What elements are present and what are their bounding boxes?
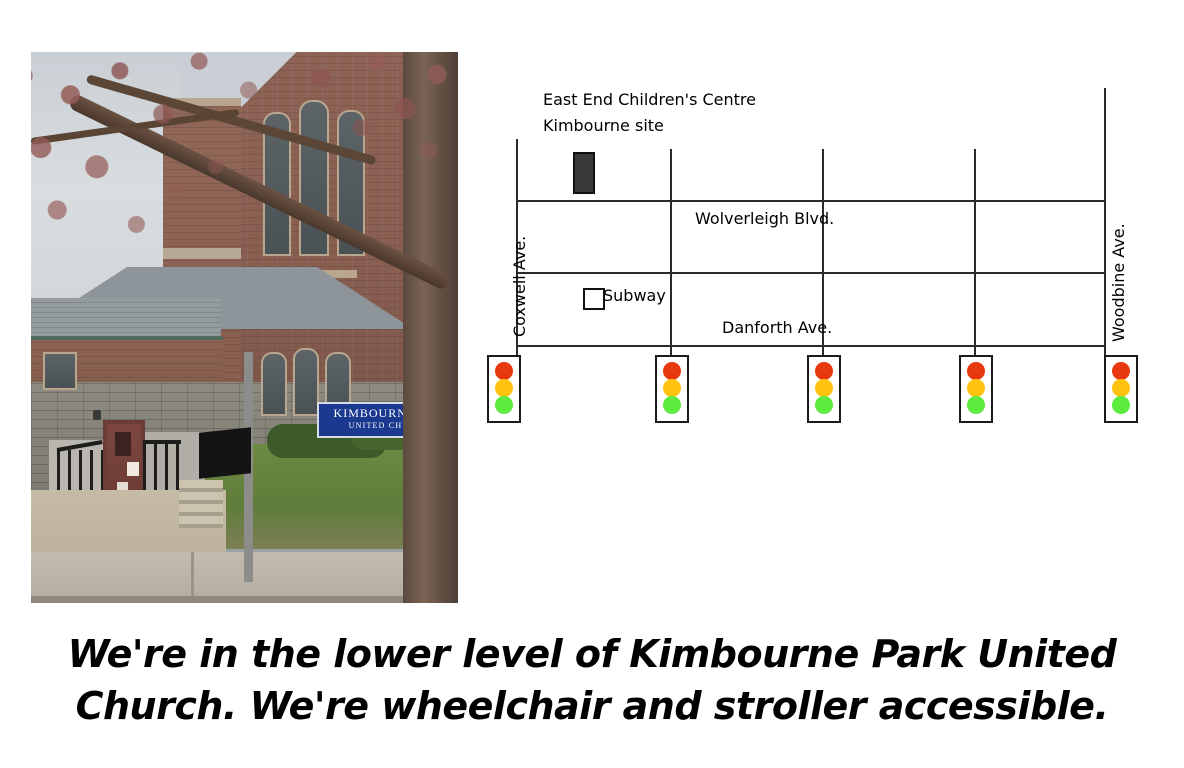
traffic-light-green-bulb [663, 396, 681, 414]
traffic-light-amber-bulb [967, 379, 985, 397]
traffic-light [807, 355, 841, 423]
traffic-light-amber-bulb [1112, 379, 1130, 397]
subway-label: Subway [603, 286, 666, 305]
street-label-woodbine: Woodbine Ave. [1109, 223, 1128, 342]
east-end-childrens-centre-marker [573, 152, 595, 194]
traffic-light [959, 355, 993, 423]
traffic-light [1104, 355, 1138, 423]
street-line-upper [516, 200, 1106, 202]
traffic-light-red-bulb [495, 362, 513, 380]
traffic-light-red-bulb [815, 362, 833, 380]
shingle-roof [31, 298, 221, 338]
curb [31, 596, 458, 603]
door-window [115, 432, 131, 456]
street-line-woodbine [1104, 88, 1106, 399]
black-sign-panel [199, 427, 251, 478]
traffic-light [487, 355, 521, 423]
street-label-danforth: Danforth Ave. [722, 318, 832, 337]
church-photo: KIMBOURNE PAR UNITED CHURCH [31, 52, 458, 603]
concrete-steps [179, 480, 223, 528]
traffic-light-green-bulb [1112, 396, 1130, 414]
traffic-light-green-bulb [815, 396, 833, 414]
traffic-light [655, 355, 689, 423]
neighbourhood-map: East End Children's Centre Kimbourne sit… [470, 52, 1170, 452]
traffic-light-green-bulb [967, 396, 985, 414]
caption-line-1: We're in the lower level of Kimbourne Pa… [0, 628, 1184, 680]
traffic-light-amber-bulb [495, 379, 513, 397]
traffic-light-amber-bulb [815, 379, 833, 397]
street-label-wolverleigh: Wolverleigh Blvd. [695, 209, 834, 228]
street-line-wolverleigh [516, 272, 1106, 274]
caption-block: We're in the lower level of Kimbourne Pa… [0, 628, 1184, 732]
street-label-coxwell: Coxwell Ave. [510, 236, 529, 337]
street-line-danforth [516, 345, 1106, 347]
caption-line-2: Church. We're wheelchair and stroller ac… [0, 680, 1184, 732]
centre-label-line2: Kimbourne site [543, 116, 664, 135]
slide-root: KIMBOURNE PAR UNITED CHURCH East End Chi… [0, 0, 1184, 768]
tree-blossom-canopy [261, 52, 458, 234]
gothic-window [261, 352, 287, 416]
centre-label-line1: East End Children's Centre [543, 90, 756, 109]
traffic-light-amber-bulb [663, 379, 681, 397]
traffic-light-green-bulb [495, 396, 513, 414]
wall-lamp [93, 410, 101, 420]
door-notice [127, 462, 139, 476]
traffic-light-red-bulb [967, 362, 985, 380]
traffic-light-red-bulb [663, 362, 681, 380]
gothic-window [43, 352, 77, 390]
subway-station-icon [583, 288, 605, 310]
ramp-railing-right-top [143, 440, 181, 444]
traffic-light-red-bulb [1112, 362, 1130, 380]
gothic-window [293, 348, 319, 416]
